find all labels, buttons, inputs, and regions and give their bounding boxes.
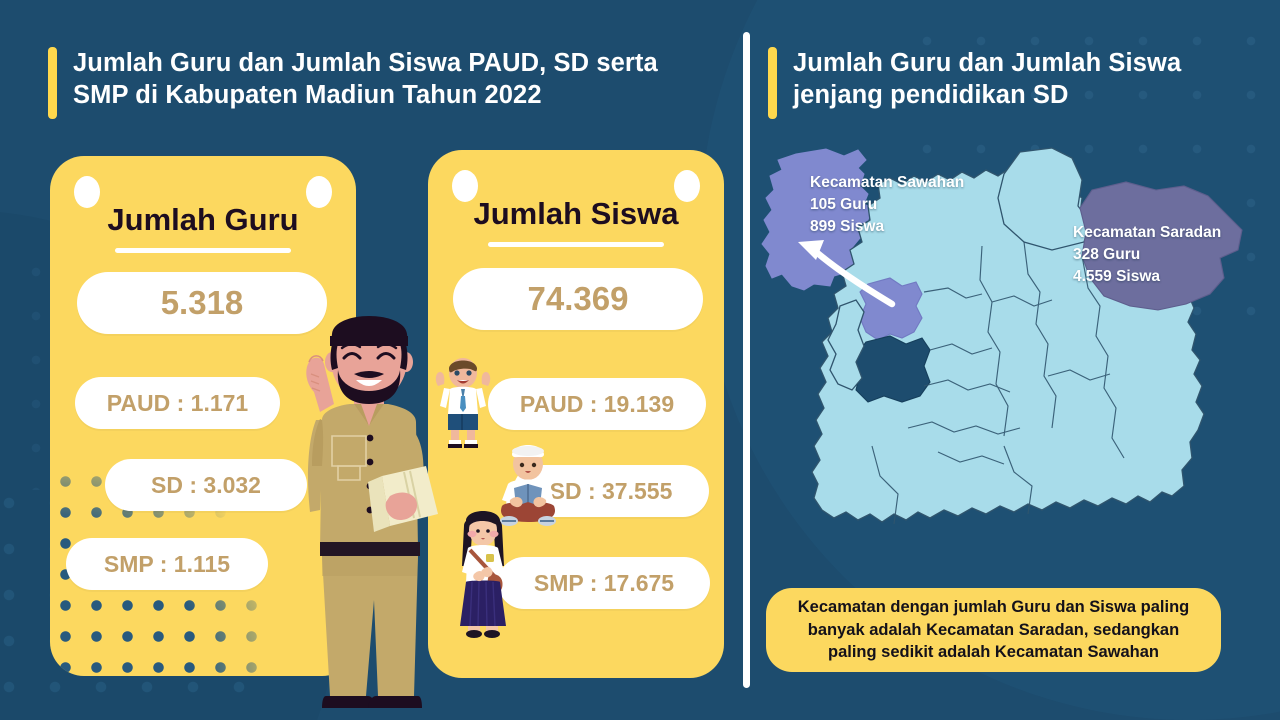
card-title-underline-guru (115, 248, 291, 253)
summary-caption-text: Kecamatan dengan jumlah Guru dan Siswa p… (782, 596, 1205, 663)
map-label-sawahan: Kecamatan Sawahan 105 Guru 899 Siswa (810, 172, 964, 238)
map-label-saradan: Kecamatan Saradan 328 Guru 4.559 Siswa (1073, 222, 1221, 288)
map-label-sawahan-students: 899 Siswa (810, 216, 964, 238)
panel-divider (743, 32, 750, 688)
guru-smp-pill: SMP : 1.115 (66, 538, 268, 590)
card-title-siswa: Jumlah Siswa (428, 196, 724, 232)
map-label-sawahan-teachers: 105 Guru (810, 194, 964, 216)
stat-card-siswa: Jumlah Siswa 74.369 PAUD : 19.139 SD : 3… (428, 150, 724, 678)
guru-sd-pill: SD : 3.032 (105, 459, 307, 511)
guru-total-pill: 5.318 (77, 272, 327, 334)
left-panel-title: Jumlah Guru dan Jumlah Siswa PAUD, SD se… (48, 47, 708, 119)
stat-card-guru: Jumlah Guru 5.318 PAUD : 1.171 SD : 3.03… (50, 156, 356, 676)
siswa-total-pill: 74.369 (453, 268, 703, 330)
siswa-paud-pill: PAUD : 19.139 (488, 378, 706, 430)
summary-caption-box: Kecamatan dengan jumlah Guru dan Siswa p… (766, 588, 1221, 672)
infographic-canvas: Jumlah Guru dan Jumlah Siswa PAUD, SD se… (0, 0, 1280, 720)
map-region-dark (854, 336, 930, 402)
title-accent-bar-left (48, 47, 57, 119)
siswa-smp-pill: SMP : 17.675 (498, 557, 710, 609)
siswa-sd-pill: SD : 37.555 (513, 465, 709, 517)
card-title-guru: Jumlah Guru (50, 202, 356, 238)
map-label-saradan-teachers: 328 Guru (1073, 244, 1221, 266)
map-label-sawahan-district: Kecamatan Sawahan (810, 172, 964, 194)
guru-paud-pill: PAUD : 1.171 (75, 377, 280, 429)
title-accent-bar-right (768, 47, 777, 119)
left-panel-title-text: Jumlah Guru dan Jumlah Siswa PAUD, SD se… (73, 47, 708, 111)
card-title-underline-siswa (488, 242, 664, 247)
map-label-saradan-students: 4.559 Siswa (1073, 266, 1221, 288)
right-panel-title: Jumlah Guru dan Jumlah Siswa jenjang pen… (768, 47, 1238, 119)
map-label-saradan-district: Kecamatan Saradan (1073, 222, 1221, 244)
right-panel-title-text: Jumlah Guru dan Jumlah Siswa jenjang pen… (793, 47, 1238, 111)
